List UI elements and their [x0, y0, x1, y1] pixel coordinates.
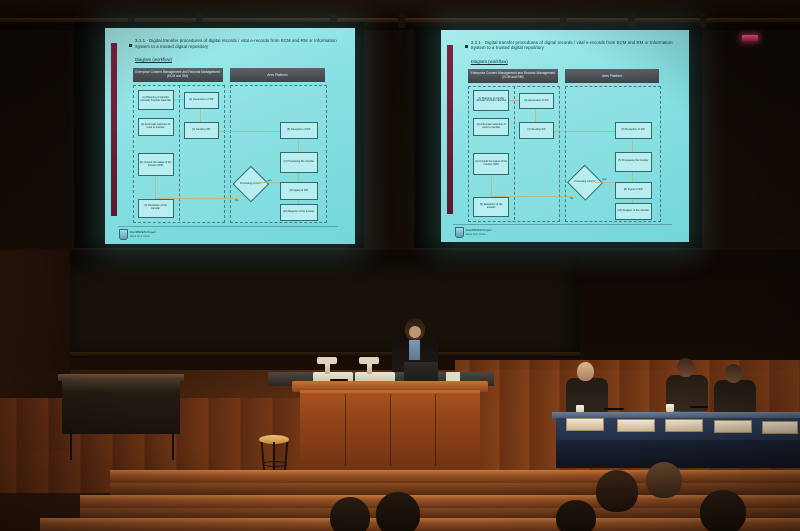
flow-line	[298, 139, 299, 152]
panel-table-skirt	[556, 440, 800, 468]
lane-divider	[514, 86, 515, 220]
podium-seam	[390, 394, 391, 466]
logo-subline: Mixed Term: Arrete	[130, 235, 156, 238]
flow-line	[155, 198, 238, 199]
slide-title: 3.3.1 - Digital transfer procedures of d…	[135, 38, 340, 50]
chalk-tray	[60, 352, 580, 356]
screen-right[interactable]: 3.3.1 - Digital transfer procedures of d…	[441, 30, 689, 242]
decision-no-label: No	[570, 197, 573, 200]
process-box-7: (7) Processing the transfer	[280, 152, 318, 173]
side-table	[62, 378, 180, 434]
process-box-2: (2) Automatic selection of units to tran…	[473, 118, 509, 136]
process-box-2: (2) Automatic selection of units to tran…	[138, 118, 174, 136]
flow-line	[200, 109, 201, 122]
process-box-3: (3) Generation of SIP	[184, 92, 219, 109]
process-box-8: (8) Ingest of SIP	[615, 182, 652, 199]
projector-left-head	[317, 357, 337, 364]
flow-line	[298, 200, 299, 204]
bullet-marker	[465, 43, 470, 49]
panelist-head	[725, 364, 742, 383]
table-leg	[70, 430, 72, 460]
namecard-3	[665, 419, 703, 432]
bench-row-3	[40, 518, 800, 531]
stool-footrest	[263, 461, 287, 467]
crest-icon	[455, 227, 464, 238]
lane-header-ecm: Enterprise Content Management and Record…	[133, 68, 223, 82]
flow-line	[509, 100, 519, 101]
flow-line	[535, 110, 536, 123]
audience-head	[596, 470, 638, 512]
slide-logo: InterPARES Project Mixed Term: Arrete	[119, 229, 156, 240]
flow-line	[174, 99, 184, 100]
process-box-5: (5) Reception of SIP	[615, 122, 652, 139]
audience-head	[646, 462, 682, 498]
audience-head	[556, 500, 596, 531]
slide-subtitle: Diagram (workflow)	[471, 59, 508, 64]
bench-row-1	[110, 470, 800, 483]
lane-divider	[179, 85, 180, 221]
process-box-9: (9) Reception of the transfer	[138, 199, 174, 218]
panelist-head	[577, 362, 594, 381]
namecard-2	[617, 419, 655, 432]
presenter-shirt	[409, 340, 420, 360]
namecard-4	[714, 420, 752, 433]
flow-line	[632, 139, 633, 152]
podium-seam	[435, 394, 436, 466]
bench-row-2	[80, 495, 800, 508]
process-box-10: (10) Register of the transfer	[280, 204, 318, 221]
flow-line	[298, 173, 299, 183]
lane-header-platform: Ares Platform	[230, 68, 325, 82]
stool-leg	[284, 442, 289, 473]
slide-footer-rule	[118, 226, 338, 227]
flow-line	[491, 175, 492, 197]
namecard-1	[566, 418, 604, 431]
process-box-8: (8) Ingest of SIP	[280, 182, 318, 199]
process-box-7: (7) Processing the transfer	[615, 152, 652, 172]
audience-head	[376, 492, 420, 531]
slide-logo: InterPARES Project Mixed Term: Arrete	[455, 227, 492, 238]
stool	[259, 435, 289, 473]
flow-line	[260, 182, 280, 183]
projector-right-head	[359, 357, 379, 364]
slide-content-right: 3.3.1 - Digital transfer procedures of d…	[441, 30, 689, 242]
decision-label: Processing correct?	[573, 181, 597, 184]
stool-leg	[273, 442, 275, 473]
decision-label: Processing correct?	[239, 182, 263, 185]
slide-accent-bar	[447, 45, 452, 215]
panel-microphone	[690, 406, 708, 408]
slide-footer-rule	[453, 224, 671, 225]
bullet-marker	[129, 41, 134, 47]
blackboard	[60, 258, 580, 358]
slide-accent-bar	[111, 43, 117, 216]
podium-seam	[345, 394, 346, 466]
logo-subline: Mixed Term: Arrete	[466, 233, 492, 236]
flow-line	[491, 196, 573, 197]
process-box-4: (4) Sending SIP	[519, 122, 554, 139]
rail-bracket	[398, 14, 405, 28]
decision-no-label: No	[235, 199, 238, 202]
process-box-6: (6) Consult the status of the transfer (…	[473, 153, 509, 175]
audience-head	[330, 497, 370, 531]
flow-line	[554, 131, 615, 132]
slide-title: 3.3.1 - Digital transfer procedures of d…	[471, 40, 674, 52]
process-box-9: (9) Reception of the transfer	[473, 197, 509, 216]
lecture-hall-photo: 3.3.1 - Digital transfer procedures of d…	[0, 0, 800, 531]
flow-line	[595, 182, 615, 183]
process-box-1: (1) Planning of transfer (annual) Transf…	[473, 90, 509, 110]
flow-line	[632, 172, 633, 182]
flow-line	[219, 131, 280, 132]
process-box-6: (6) Consult the status of the transfer (…	[138, 153, 174, 176]
panel-microphone	[604, 408, 624, 410]
panelist-head	[677, 358, 694, 377]
panelist-body	[566, 378, 608, 414]
lane-header-ecm: Enterprise Content Management and Record…	[468, 69, 557, 83]
crest-icon	[119, 229, 128, 240]
process-box-5: (5) Reception of SIP	[280, 122, 318, 139]
audience-head	[700, 490, 746, 531]
screen-left[interactable]: 3.3.1 - Digital transfer procedures of d…	[105, 28, 355, 244]
process-box-4: (4) Sending SIP	[184, 122, 219, 139]
process-box-1: (1) Planning of transfer (annual) Transf…	[138, 90, 174, 111]
lane-header-platform: Ares Platform	[565, 69, 659, 83]
presenter-face	[409, 326, 421, 338]
panelist-body	[714, 380, 756, 416]
stool-leg	[261, 442, 266, 473]
process-box-3: (3) Generation of SIP	[519, 93, 554, 110]
flow-line	[155, 176, 156, 199]
process-box-10: (10) Register of the transfer	[615, 203, 652, 220]
slide-content-left: 3.3.1 - Digital transfer procedures of d…	[105, 28, 355, 244]
flow-line	[632, 199, 633, 203]
namecard-5	[762, 421, 798, 434]
table-leg	[172, 430, 174, 460]
slide-subtitle: Diagram (workflow)	[135, 57, 172, 62]
exit-sign	[742, 35, 758, 41]
